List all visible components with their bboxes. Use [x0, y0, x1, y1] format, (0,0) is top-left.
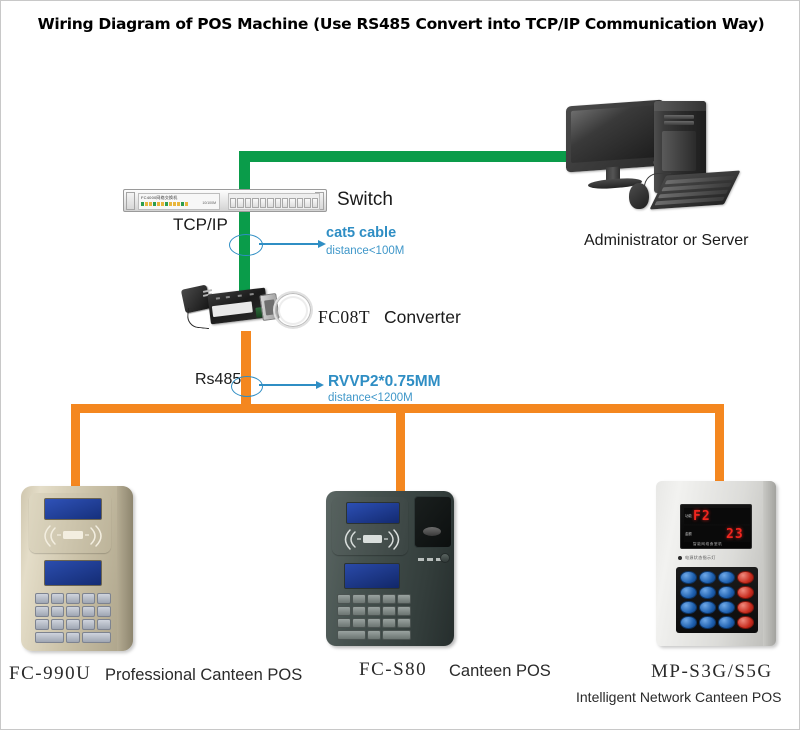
converter-word-label: Converter: [384, 307, 461, 328]
server-label: Administrator or Server: [584, 232, 749, 250]
keypad-key[interactable]: [51, 593, 65, 604]
keypad-key[interactable]: [82, 593, 96, 604]
switch-port[interactable]: [275, 198, 281, 208]
keypad-key[interactable]: [367, 618, 381, 628]
network-switch[interactable]: FC4000网络交换机 10/100M 123456 789101112: [123, 189, 327, 212]
switch-led-strip: [141, 202, 188, 206]
keypad-key[interactable]: [66, 606, 80, 617]
keypad-key[interactable]: [82, 606, 96, 617]
pos-mps3g-name: Intelligent Network Canteen POS: [576, 689, 781, 705]
pos-fc990u-name: Professional Canteen POS: [105, 666, 302, 685]
tcpip-label: TCP/IP: [173, 215, 228, 235]
pos-fcs80-name: Canteen POS: [449, 662, 551, 681]
switch-rack-ear-left: [126, 192, 135, 210]
power-indicator-label: 电源状态指示灯: [685, 555, 716, 561]
tower-top-panel: [654, 101, 706, 111]
keypad-key[interactable]: [66, 632, 80, 643]
keypad-key[interactable]: [367, 606, 381, 616]
keypad-key[interactable]: [51, 606, 65, 617]
keypad-key-5[interactable]: [699, 586, 716, 599]
tower-front-panel: [662, 131, 696, 171]
keypad-key-7[interactable]: [680, 571, 697, 584]
tower-drive-bay: [664, 121, 694, 125]
converter-sticker: [212, 301, 253, 317]
tcpip-tap-marker: [229, 234, 263, 256]
converter-code-label: FC08T: [318, 307, 370, 328]
switch-port[interactable]: [312, 198, 318, 208]
display-tag-amount: 金额: [685, 531, 692, 536]
keypad-key[interactable]: [66, 619, 80, 630]
keypad-key-0[interactable]: [680, 616, 697, 629]
pos-mps3g-code: MP-S3G/S5G: [651, 661, 773, 683]
display-tag-function: 功能: [685, 513, 692, 518]
keypad-key-dot[interactable]: [699, 616, 716, 629]
keypad-key[interactable]: [97, 619, 111, 630]
rs485-drop-center: [396, 404, 405, 496]
switch-speed-label: 10/100M: [202, 201, 216, 205]
keypad-key-4[interactable]: [680, 586, 697, 599]
keypad-key[interactable]: [35, 606, 49, 617]
switch-port[interactable]: [245, 198, 251, 208]
display-footer-text: 智能网络食堂机: [693, 542, 722, 547]
diagram-title: Wiring Diagram of POS Machine (Use RS485…: [1, 15, 800, 33]
keypad-key-6[interactable]: [718, 586, 735, 599]
switch-port[interactable]: [252, 198, 258, 208]
device-side-panel: [117, 486, 133, 651]
keypad-key[interactable]: [35, 593, 49, 604]
rs485-tap-marker: [231, 376, 263, 397]
switch-port[interactable]: [267, 198, 273, 208]
mouse[interactable]: [629, 183, 649, 209]
device-side-panel: [763, 481, 776, 646]
device-lcd-bottom: [44, 560, 102, 586]
display-value-function: F2: [693, 509, 711, 524]
keypad-key[interactable]: [352, 594, 366, 604]
diagram-canvas: Wiring Diagram of POS Machine (Use RS485…: [0, 0, 800, 730]
pos-device-fc990u[interactable]: [21, 486, 133, 651]
tcpip-callout-arrow: [318, 240, 326, 248]
tcpip-callout-line: [259, 243, 319, 245]
device-lcd-bottom: [344, 563, 400, 589]
tcpip-callout-sub: distance<100M: [326, 245, 404, 257]
switch-port-bank[interactable]: [228, 193, 320, 210]
device-keypad[interactable]: [35, 593, 111, 643]
rs485-wire-from-converter: [241, 331, 251, 411]
keypad-key-func-2[interactable]: [737, 586, 754, 599]
keypad-key[interactable]: [97, 593, 111, 604]
server-computer[interactable]: LCD: [566, 101, 731, 213]
switch-label: Switch: [337, 189, 393, 211]
switch-port[interactable]: [289, 198, 295, 208]
switch-port[interactable]: [304, 198, 310, 208]
device-lcd-top: [44, 498, 102, 520]
display-row-amount: 金额 23: [684, 526, 750, 542]
keypad-key-8[interactable]: [699, 571, 716, 584]
keypad-key[interactable]: [382, 618, 396, 628]
keypad-key[interactable]: [97, 606, 111, 617]
switch-status-panel: FC4000网络交换机 10/100M: [138, 193, 220, 210]
keypad-key-enter[interactable]: [382, 630, 411, 640]
keypad-key[interactable]: [82, 619, 96, 630]
converter-box: [207, 288, 268, 325]
device-lcd-top: [346, 502, 400, 524]
tower-drive-bay: [664, 115, 694, 119]
converter-led: [250, 293, 254, 295]
device-led-display: 功能 F2 金额 23 智能网络食堂机: [680, 504, 752, 549]
pos-device-fcs80[interactable]: [326, 491, 454, 646]
switch-port[interactable]: [260, 198, 266, 208]
switch-port[interactable]: [237, 198, 243, 208]
rs485-drop-left: [71, 404, 80, 494]
keypad-key[interactable]: [66, 593, 80, 604]
power-indicator-group: 电源状态指示灯: [678, 555, 722, 562]
monitor: LCD: [566, 100, 664, 173]
keypad-key-9[interactable]: [718, 571, 735, 584]
keypad-key[interactable]: [397, 594, 411, 604]
keypad-key[interactable]: [352, 618, 366, 628]
keypad-key-2[interactable]: [699, 601, 716, 614]
keypad-key[interactable]: [382, 606, 396, 616]
keypad-key-enter[interactable]: [82, 632, 111, 643]
keypad-key[interactable]: [367, 594, 381, 604]
keypad-key-func-1[interactable]: [737, 571, 754, 584]
keypad-key[interactable]: [337, 606, 351, 616]
rs485-callout-main: RVVP2*0.75MM: [328, 373, 441, 391]
keypad-key[interactable]: [367, 630, 381, 640]
keypad-key[interactable]: [337, 618, 351, 628]
device-upper-housing: [29, 493, 111, 553]
power-adapter-cord: [186, 308, 211, 329]
rs485-to-tcpip-converter[interactable]: [181, 287, 314, 331]
pos-fcs80-code: FC-S80: [359, 659, 427, 681]
keypad-key-func-4[interactable]: [737, 616, 754, 629]
keypad-key[interactable]: [397, 606, 411, 616]
keypad-key-f[interactable]: [718, 616, 735, 629]
rfid-wave-icon: [39, 524, 107, 548]
keypad-key[interactable]: [397, 618, 411, 628]
switch-brand-label: FC4000网络交换机: [141, 195, 177, 201]
keypad-key[interactable]: [35, 619, 49, 630]
keypad-key-wide[interactable]: [337, 630, 366, 640]
switch-port[interactable]: [282, 198, 288, 208]
ethernet-wire-horizontal: [239, 151, 569, 162]
converter-led: [226, 296, 230, 298]
keypad-key[interactable]: [337, 594, 351, 604]
converter-led: [216, 297, 220, 299]
pos-fc990u-code: FC-990U: [9, 663, 91, 685]
tcpip-callout-main: cat5 cable: [326, 225, 396, 241]
device-power-button[interactable]: [440, 553, 450, 563]
keypad-key[interactable]: [352, 606, 366, 616]
display-row-function: 功能 F2: [684, 508, 750, 524]
switch-port[interactable]: [230, 198, 236, 208]
rs485-callout-line: [259, 384, 317, 386]
converter-led: [238, 294, 242, 296]
serial-cable-coil-inner: [278, 296, 308, 325]
display-value-amount: 23: [726, 527, 744, 542]
pos-device-mps3g[interactable]: 功能 F2 金额 23 智能网络食堂机 电源状态指示灯: [656, 481, 776, 646]
keypad-key[interactable]: [382, 594, 396, 604]
keypad-key-func-3[interactable]: [737, 601, 754, 614]
device-keypad[interactable]: [676, 567, 758, 633]
keypad-key[interactable]: [51, 619, 65, 630]
monitor-screen: [571, 105, 659, 163]
fingerprint-reader-icon[interactable]: [414, 496, 452, 548]
device-keypad[interactable]: [337, 594, 411, 640]
rs485-drop-right: [715, 404, 724, 486]
rfid-wave-icon: [340, 528, 404, 551]
keypad-key-3[interactable]: [718, 601, 735, 614]
switch-port[interactable]: [297, 198, 303, 208]
device-upper-housing: [332, 497, 408, 555]
rs485-callout-arrow: [316, 381, 324, 389]
rs485-callout-sub: distance<1200M: [328, 392, 413, 404]
keypad-key-1[interactable]: [680, 601, 697, 614]
keypad-key-wide[interactable]: [35, 632, 64, 643]
